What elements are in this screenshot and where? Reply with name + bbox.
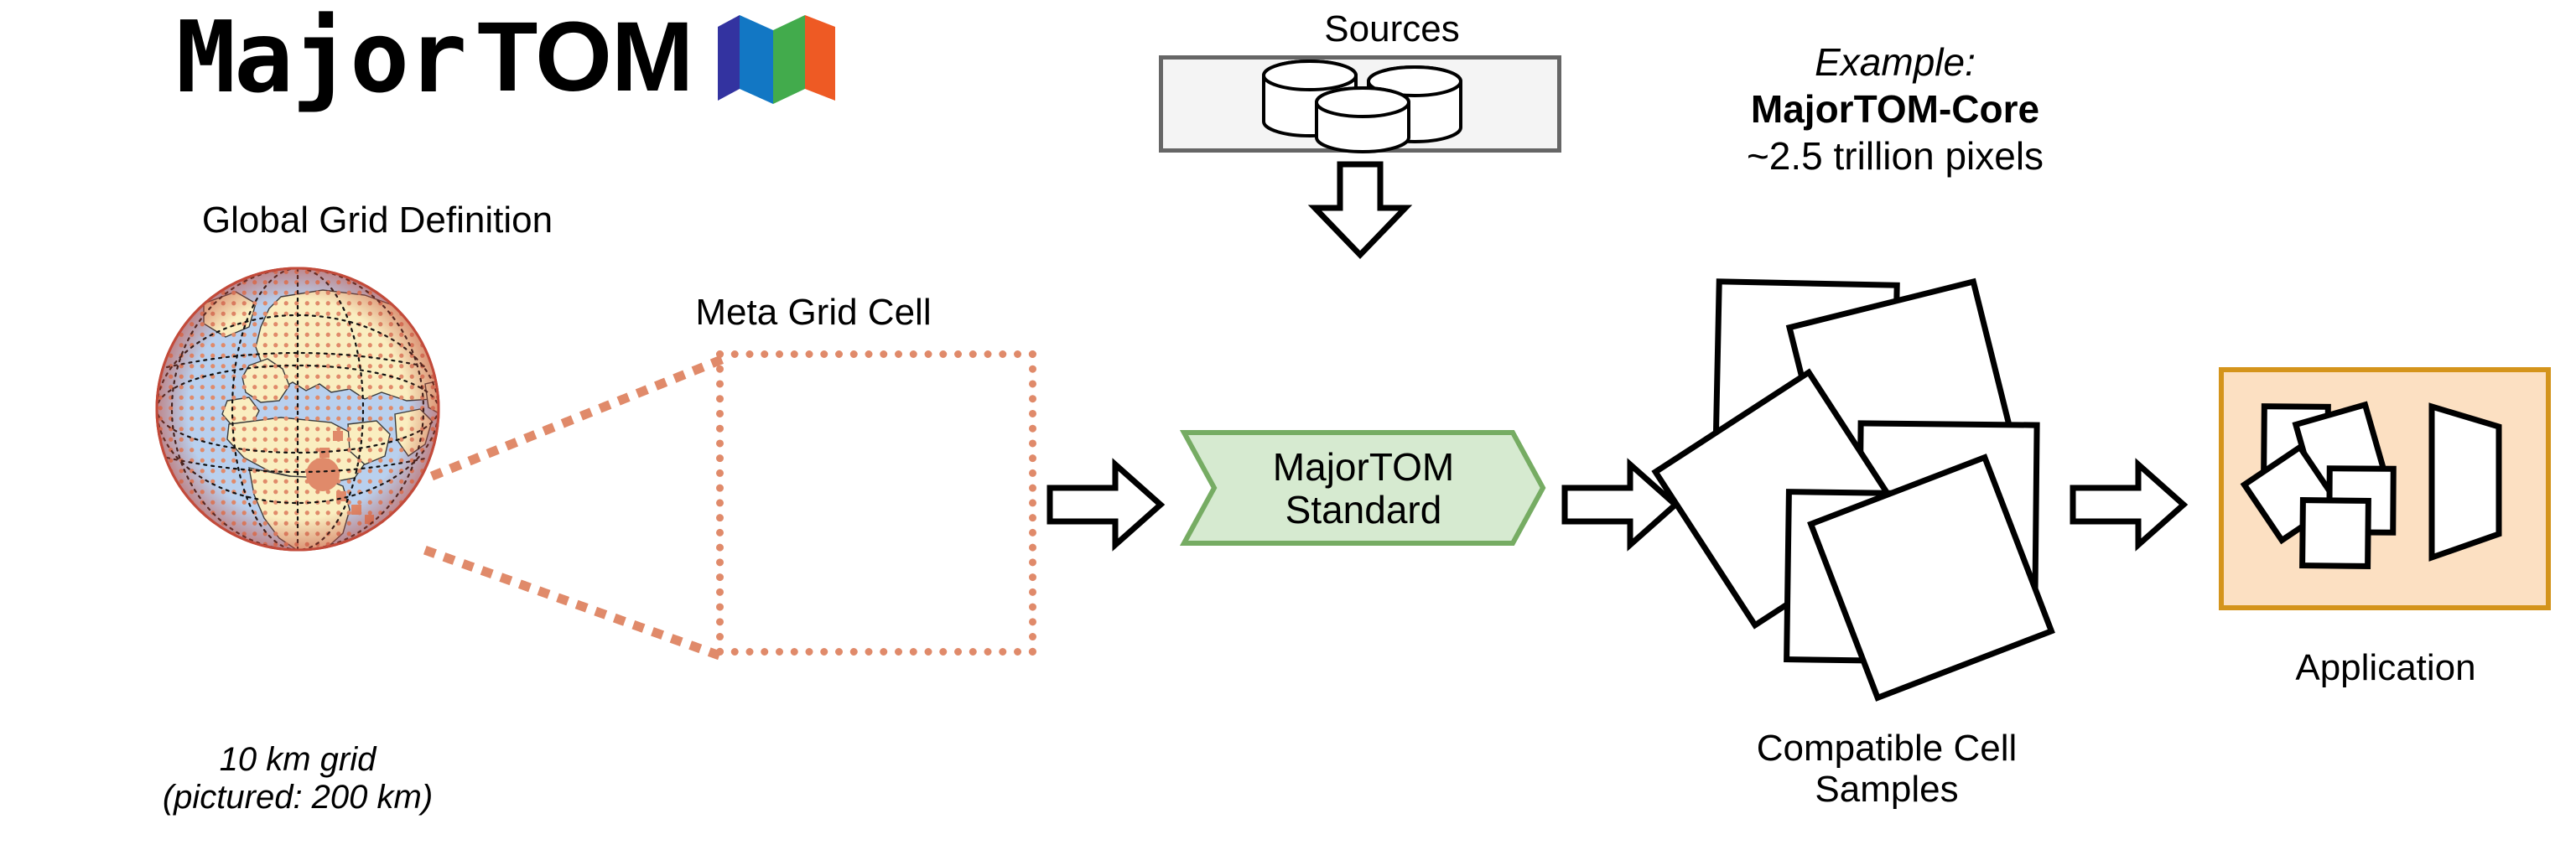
global-grid-title: Global Grid Definition (75, 200, 679, 241)
compatible-cell-samples-tiles (1665, 277, 2068, 713)
diagram-canvas: Major TOM Sources (0, 0, 2576, 845)
example-caption-block: Example: MajorTOM-Core ~2.5 trillion pix… (1618, 39, 2172, 179)
example-label: Example: (1618, 39, 2172, 86)
major-tom-logo: Major TOM (176, 7, 1115, 107)
application-caption: Application (2214, 647, 2558, 688)
compatible-cell-samples-caption: Compatible Cell Samples (1635, 728, 2138, 811)
majortom-standard-label: MajorTOM Standard (1181, 446, 1546, 531)
folded-map-logo-icon (714, 12, 839, 104)
example-dataset-size: ~2.5 trillion pixels (1618, 132, 2172, 179)
logo-word-tom: TOM (477, 8, 693, 106)
arrow-grid-to-standard (1050, 463, 1164, 547)
logo-word-major: Major (176, 8, 465, 106)
sources-box (1159, 55, 1561, 153)
database-cylinders-icon (1163, 59, 1557, 148)
globe-scale-caption: 10 km grid (pictured: 200 km) (117, 741, 478, 816)
arrow-sources-to-standard (1310, 164, 1410, 257)
example-dataset-name: MajorTOM-Core (1618, 86, 2172, 132)
globe-illustration (155, 267, 440, 552)
meta-cell-callout-lines (419, 360, 755, 662)
application-tiles-icon (2224, 371, 2546, 604)
meta-grid-cell-box (716, 350, 1036, 656)
sources-title: Sources (1216, 8, 1568, 49)
arrow-samples-to-application (2073, 463, 2187, 547)
application-box (2219, 367, 2551, 610)
meta-grid-cell-title: Meta Grid Cell (503, 292, 1124, 333)
